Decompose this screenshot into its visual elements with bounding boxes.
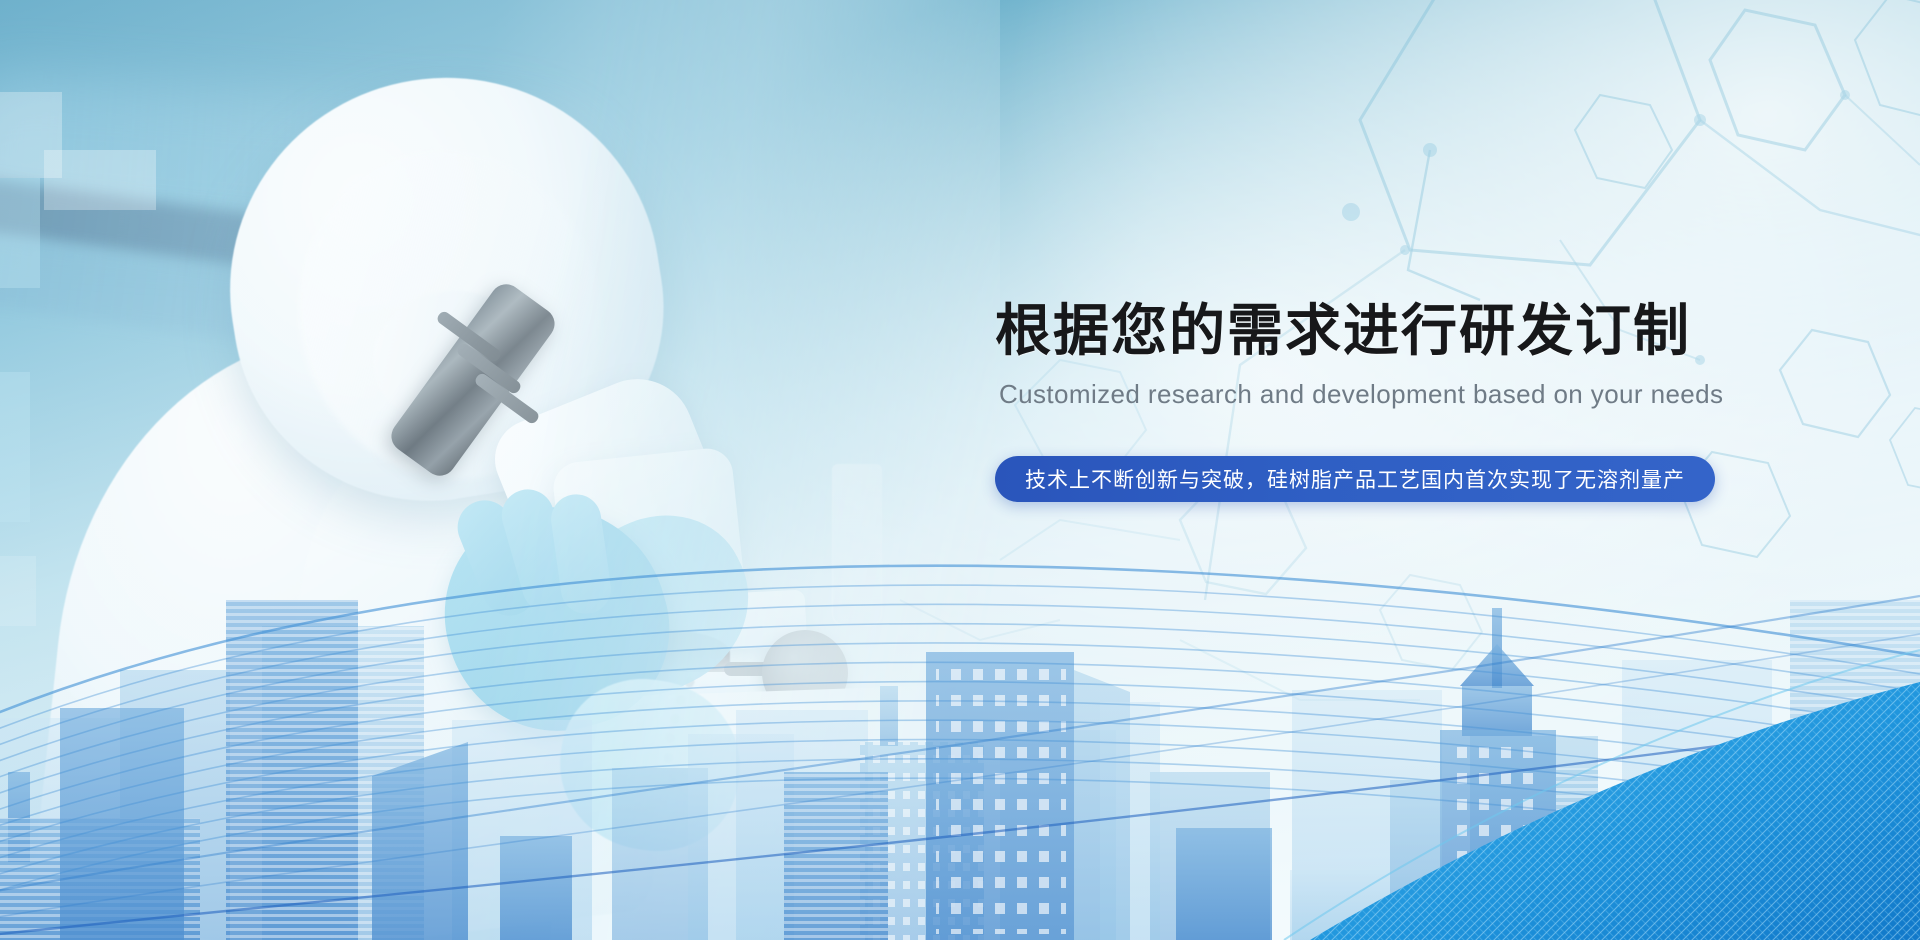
- page-title: 根据您的需求进行研发订制: [995, 300, 1875, 363]
- hero-banner: 根据您的需求进行研发订制 Customized research and dev…: [0, 0, 1920, 940]
- cyan-wave-wedge: [1200, 640, 1920, 940]
- banner-content: 根据您的需求进行研发订制 Customized research and dev…: [995, 300, 1875, 502]
- tagline-badge: 技术上不断创新与突破，硅树脂产品工艺国内首次实现了无溶剂量产: [995, 456, 1715, 502]
- page-subtitle: Customized research and development base…: [999, 379, 1875, 410]
